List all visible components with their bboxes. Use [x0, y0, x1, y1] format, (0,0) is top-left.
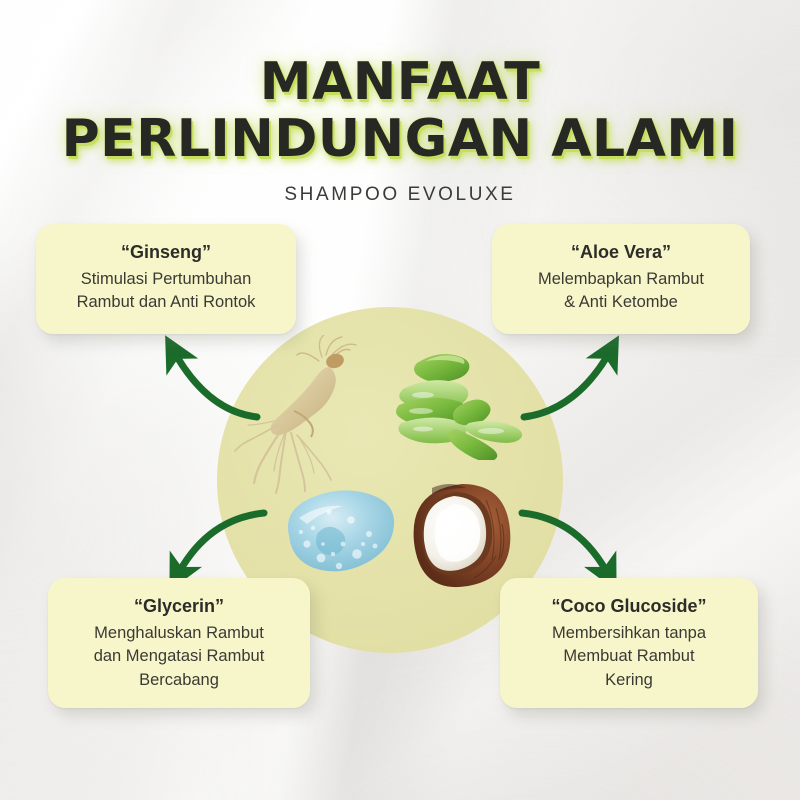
poster-header: MANFAAT PERLINDUNGAN ALAMI SHAMPOO EVOLU…: [0, 58, 800, 206]
benefit-card-title: “Aloe Vera”: [506, 242, 736, 263]
benefit-card-line-1: Membersihkan tanpa: [514, 622, 744, 645]
page-subtitle: SHAMPOO EVOLUXE: [0, 184, 800, 206]
benefit-card-ginseng[interactable]: “Ginseng” Stimulasi Pertumbuhan Rambut d…: [36, 224, 296, 334]
benefit-card-glycerin[interactable]: “Glycerin” Menghaluskan Rambut dan Menga…: [48, 578, 310, 708]
benefit-card-coco-glucoside[interactable]: “Coco Glucoside” Membersihkan tanpa Memb…: [500, 578, 758, 708]
benefit-card-line-2: dan Mengatasi Rambut: [62, 645, 296, 668]
benefit-card-title: “Glycerin”: [62, 596, 296, 617]
benefit-card-title: “Ginseng”: [50, 242, 282, 263]
benefit-card-aloe-vera[interactable]: “Aloe Vera” Melembapkan Rambut & Anti Ke…: [492, 224, 750, 334]
ginseng-root-icon: [234, 335, 389, 500]
benefit-card-line-1: Melembapkan Rambut: [506, 268, 736, 291]
benefit-card-line-1: Menghaluskan Rambut: [62, 622, 296, 645]
benefit-card-line-3: Bercabang: [62, 669, 296, 692]
benefit-card-title: “Coco Glucoside”: [514, 596, 744, 617]
coconut-icon: [410, 482, 514, 588]
infographic-poster: MANFAAT PERLINDUNGAN ALAMI SHAMPOO EVOLU…: [0, 0, 800, 800]
page-title-line-2: PERLINDUNGAN ALAMI: [0, 115, 800, 164]
benefit-card-line-2: Membuat Rambut: [514, 645, 744, 668]
benefit-card-line-1: Stimulasi Pertumbuhan: [50, 268, 282, 291]
benefit-card-line-3: Kering: [514, 669, 744, 692]
glycerin-gel-icon: [277, 484, 397, 586]
page-title-line-1: MANFAAT: [0, 58, 800, 107]
benefit-card-line-2: Rambut dan Anti Rontok: [50, 291, 282, 314]
aloe-vera-icon: [395, 345, 530, 460]
benefit-card-line-2: & Anti Ketombe: [506, 291, 736, 314]
